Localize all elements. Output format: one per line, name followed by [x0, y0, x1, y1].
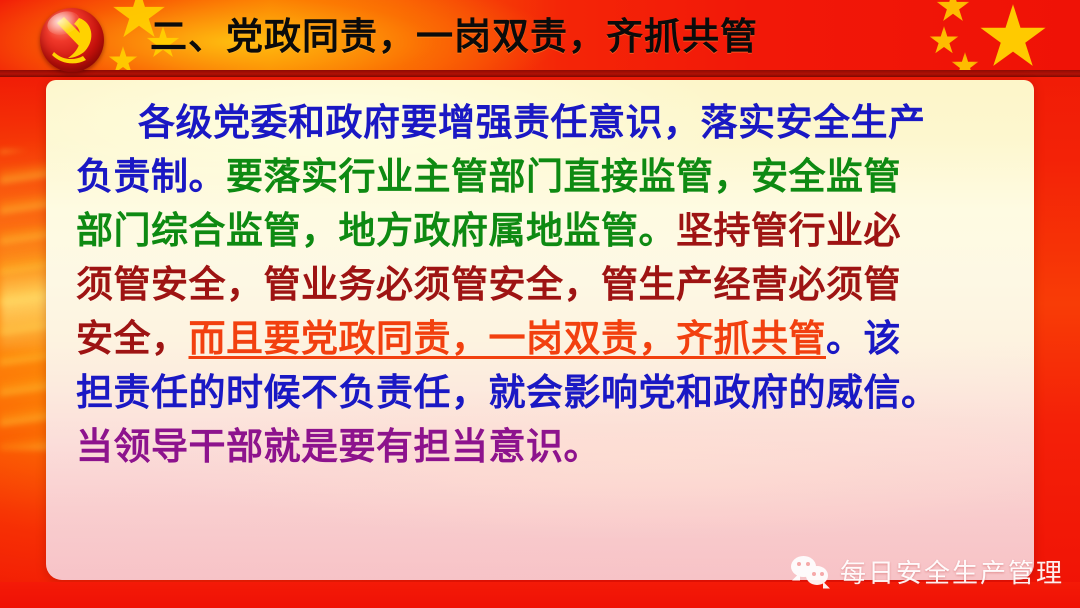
flag-star-icon [936, 0, 970, 24]
body-text-segment: 部门综合监管，地方政府属地监管。 [76, 209, 676, 252]
page-title: 二、党政同责，一岗双责，齐抓共管 [150, 13, 758, 61]
flag-star-icon [929, 26, 959, 56]
slide-root: 二、党政同责，一岗双责，齐抓共管 各级党委和政府要增强责任意识，落实安全生产负责… [0, 0, 1080, 608]
body-text-segment: 当领导干部就是要有担当意识。 [76, 425, 601, 468]
body-line: 安全，而且要党政同责，一岗双责，齐抓共管。该 [76, 312, 1006, 366]
body-text-segment: 各级党委和政府要增强责任意识，落实安全生产 [138, 101, 926, 144]
body-text: 各级党委和政府要增强责任意识，落实安全生产负责制。要落实行业主管部门直接监管，安… [76, 96, 1006, 474]
body-text-segment: 负责制。 [76, 155, 226, 198]
body-line: 部门综合监管，地方政府属地监管。坚持管行业必 [76, 204, 1006, 258]
flag-star-icon [979, 4, 1047, 72]
body-text-segment: 须管安全，管业务必须管安全，管生产经营必须管 [76, 263, 901, 306]
body-text-segment: 。该 [826, 317, 901, 360]
content-panel: 各级党委和政府要增强责任意识，落实安全生产负责制。要落实行业主管部门直接监管，安… [46, 80, 1034, 580]
party-emblem-icon [40, 8, 104, 72]
body-line: 当领导干部就是要有担当意识。 [76, 420, 1006, 474]
body-line: 担责任的时候不负责任，就会影响党和政府的威信。 [76, 366, 1006, 420]
wechat-icon [791, 556, 831, 588]
body-line: 须管安全，管业务必须管安全，管生产经营必须管 [76, 258, 1006, 312]
body-text-segment: 安全， [76, 317, 189, 360]
banner-bottom-edge [0, 70, 1080, 77]
watermark: 每日安全生产管理 [791, 553, 1064, 590]
body-text-segment: 要落实行业主管部门直接监管，安全监管 [226, 155, 901, 198]
body-text-segment: 而且要党政同责，一岗双责，齐抓共管 [189, 317, 827, 360]
body-text-segment: 担责任的时候不负责任，就会影响党和政府的威信。 [76, 371, 939, 414]
body-line: 负责制。要落实行业主管部门直接监管，安全监管 [76, 150, 1006, 204]
body-text-segment: 坚持管行业必 [676, 209, 901, 252]
watermark-label: 每日安全生产管理 [840, 553, 1064, 590]
body-line: 各级党委和政府要增强责任意识，落实安全生产 [76, 96, 1006, 150]
